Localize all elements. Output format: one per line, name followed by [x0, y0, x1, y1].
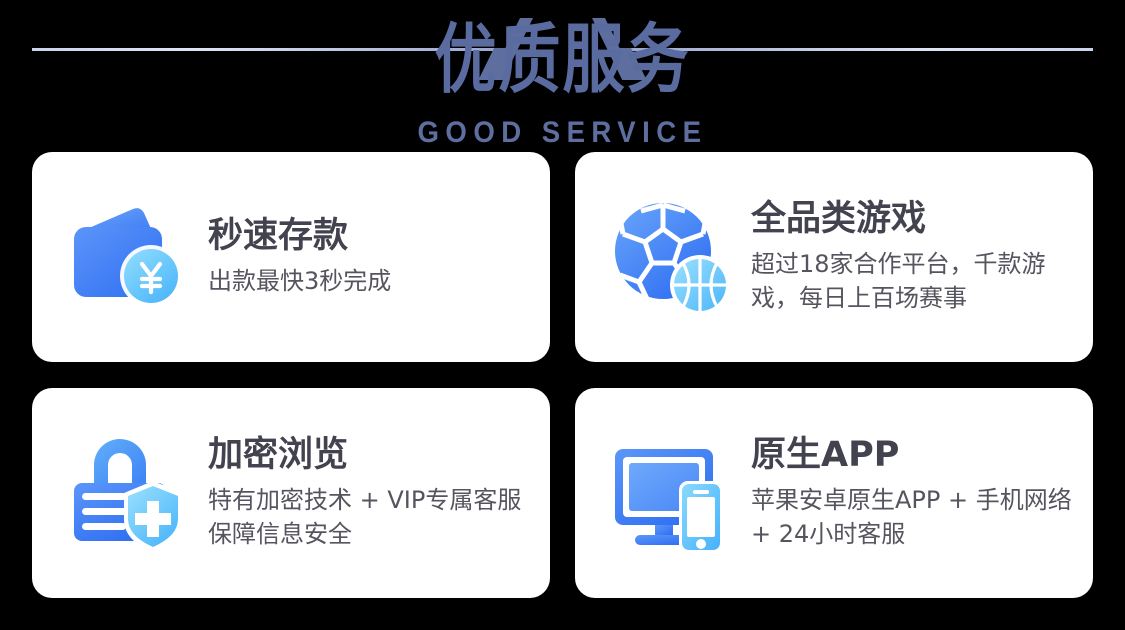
card-description: 出款最快3秒完成: [208, 264, 536, 298]
card-description: 超过18家合作平台，千款游戏，每日上百场赛事: [751, 247, 1079, 315]
feature-card-games[interactable]: 全品类游戏 超过18家合作平台，千款游戏，每日上百场赛事: [575, 152, 1093, 362]
card-description: 苹果安卓原生APP + 手机网络 + 24小时客服: [751, 483, 1079, 551]
feature-card-text: 原生APP 苹果安卓原生APP + 手机网络 + 24小时客服: [751, 435, 1093, 550]
feature-card-text: 全品类游戏 超过18家合作平台，千款游戏，每日上百场赛事: [751, 199, 1093, 314]
card-title: 秒速存款: [208, 216, 536, 257]
feature-card-grid: 秒速存款 出款最快3秒完成: [32, 152, 1093, 598]
monitor-phone-icon: [603, 425, 739, 561]
header-text-block: 优质服务 GOOD SERVICE: [0, 0, 1125, 148]
feature-card-text: 秒速存款 出款最快3秒完成: [208, 216, 550, 297]
page-header: 优质服务 GOOD SERVICE: [0, 0, 1125, 148]
card-title: 原生APP: [751, 435, 1079, 476]
card-description: 特有加密技术 + VIP专属客服保障信息安全: [208, 483, 536, 551]
feature-card-native-app[interactable]: 原生APP 苹果安卓原生APP + 手机网络 + 24小时客服: [575, 388, 1093, 598]
feature-card-text: 加密浏览 特有加密技术 + VIP专属客服保障信息安全: [208, 435, 550, 550]
feature-card-deposit[interactable]: 秒速存款 出款最快3秒完成: [32, 152, 550, 362]
card-title: 全品类游戏: [751, 199, 1079, 240]
feature-card-encryption[interactable]: 加密浏览 特有加密技术 + VIP专属客服保障信息安全: [32, 388, 550, 598]
lock-shield-icon: [60, 425, 196, 561]
soccer-basketball-icon: [603, 189, 739, 325]
card-title: 加密浏览: [208, 435, 536, 476]
wallet-yen-icon: [60, 189, 196, 325]
page-subtitle: GOOD SERVICE: [45, 80, 1080, 148]
